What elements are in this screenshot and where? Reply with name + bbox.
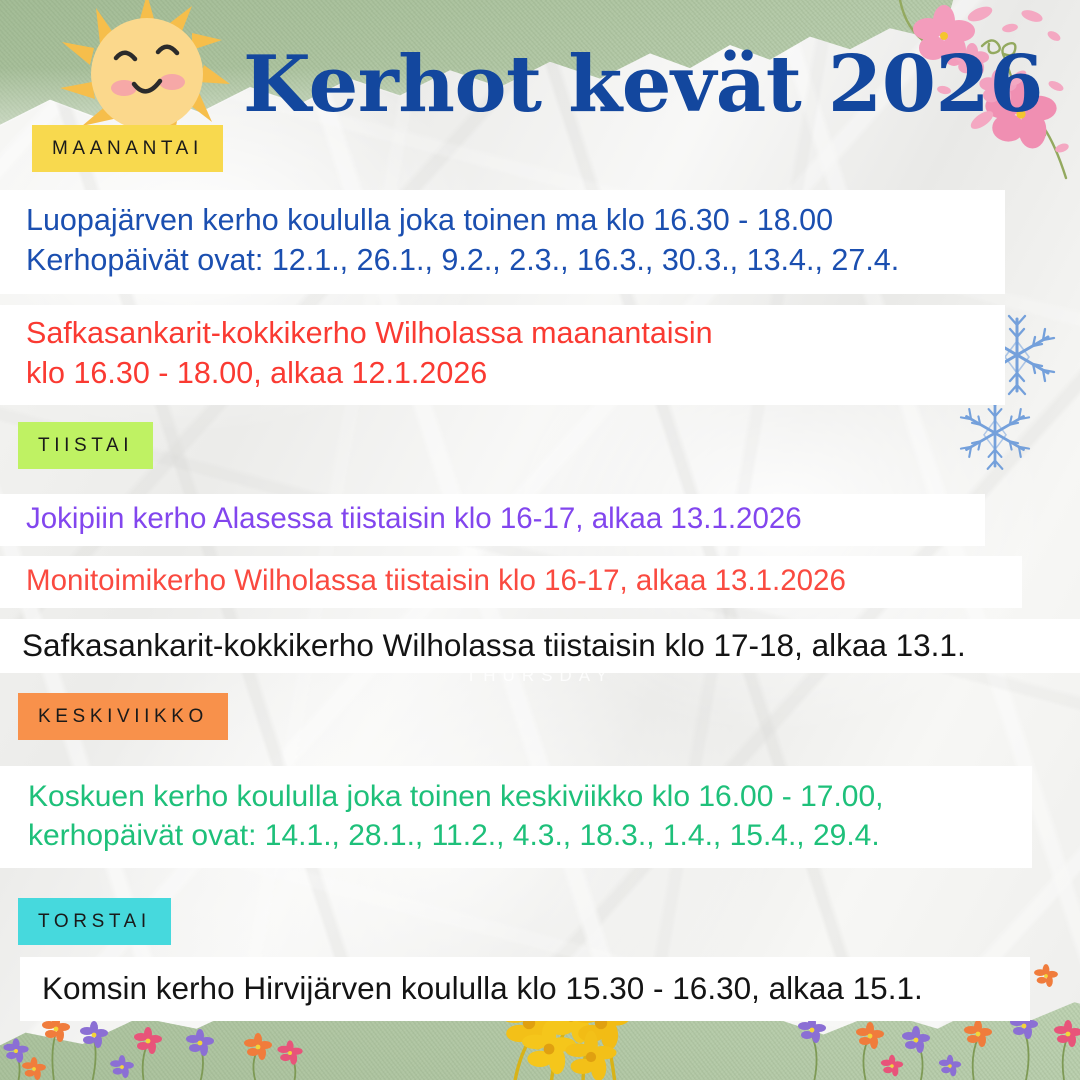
day-badge-keskiviikko: KESKIVIIKKO: [18, 693, 228, 740]
club-entry: Safkasankarit-kokkikerho Wilholassa maan…: [0, 305, 1005, 405]
club-entry-line: Koskuen kerho koululla joka toinen keski…: [28, 777, 1032, 816]
day-badge-tiistai: TIISTAI: [18, 422, 153, 469]
club-entry-line: Komsin kerho Hirvijärven koululla klo 15…: [42, 968, 1030, 1009]
club-entry: Safkasankarit-kokkikerho Wilholassa tiis…: [0, 619, 1080, 673]
club-entry-line: Jokipiin kerho Alasessa tiistaisin klo 1…: [26, 500, 985, 538]
page-title: Kerhot kevät 2026: [243, 46, 1043, 124]
club-entry: Komsin kerho Hirvijärven koululla klo 15…: [20, 957, 1030, 1021]
club-entry: Luopajärven kerho koululla joka toinen m…: [0, 190, 1005, 294]
club-entry-line: kerhopäivät ovat: 14.1., 28.1., 11.2., 4…: [28, 816, 1032, 855]
club-entry: Koskuen kerho koululla joka toinen keski…: [0, 766, 1032, 868]
club-entry-line: klo 16.30 - 18.00, alkaa 12.1.2026: [26, 354, 1005, 394]
day-badge-maanantai: MAANANTAI: [32, 125, 223, 172]
club-entry-line: Luopajärven kerho koululla joka toinen m…: [26, 201, 1005, 241]
club-entry-line: Monitoimikerho Wilholassa tiistaisin klo…: [26, 562, 1022, 600]
club-entry-line: Kerhopäivät ovat: 12.1., 26.1., 9.2., 2.…: [26, 241, 1005, 281]
club-entry-line: Safkasankarit-kokkikerho Wilholassa maan…: [26, 314, 1005, 354]
club-entry-line: Safkasankarit-kokkikerho Wilholassa tiis…: [22, 625, 1080, 666]
day-badge-torstai: TORSTAI: [18, 898, 171, 945]
club-entry: Monitoimikerho Wilholassa tiistaisin klo…: [0, 556, 1022, 608]
poster-canvas: THURSDAY Kerhot kevät 2026 MAANANTAI Luo…: [0, 0, 1080, 1080]
club-entry: Jokipiin kerho Alasessa tiistaisin klo 1…: [0, 494, 985, 546]
poster-content: Kerhot kevät 2026 MAANANTAI Luopajärven …: [0, 0, 1080, 1080]
